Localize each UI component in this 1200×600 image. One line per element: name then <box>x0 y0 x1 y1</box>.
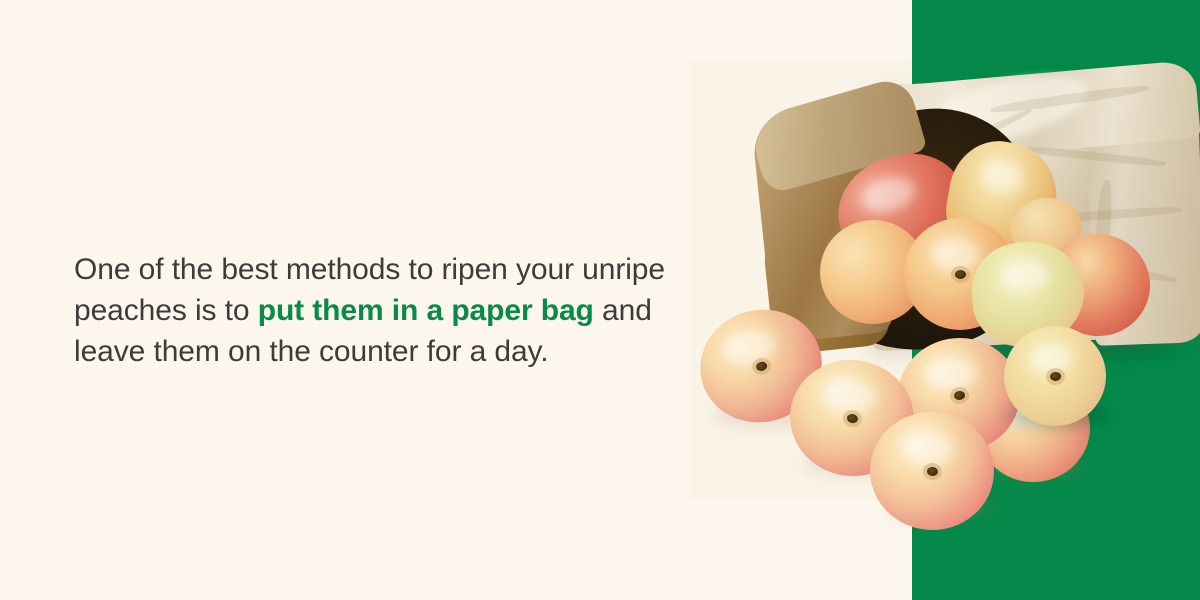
caption-highlight: put them in a paper bag <box>258 294 594 327</box>
caption-text: One of the best methods to ripen your un… <box>74 249 714 372</box>
infographic-card: One of the best methods to ripen your un… <box>0 0 1200 600</box>
peaches-in-paper-bag-photo <box>690 60 1200 500</box>
